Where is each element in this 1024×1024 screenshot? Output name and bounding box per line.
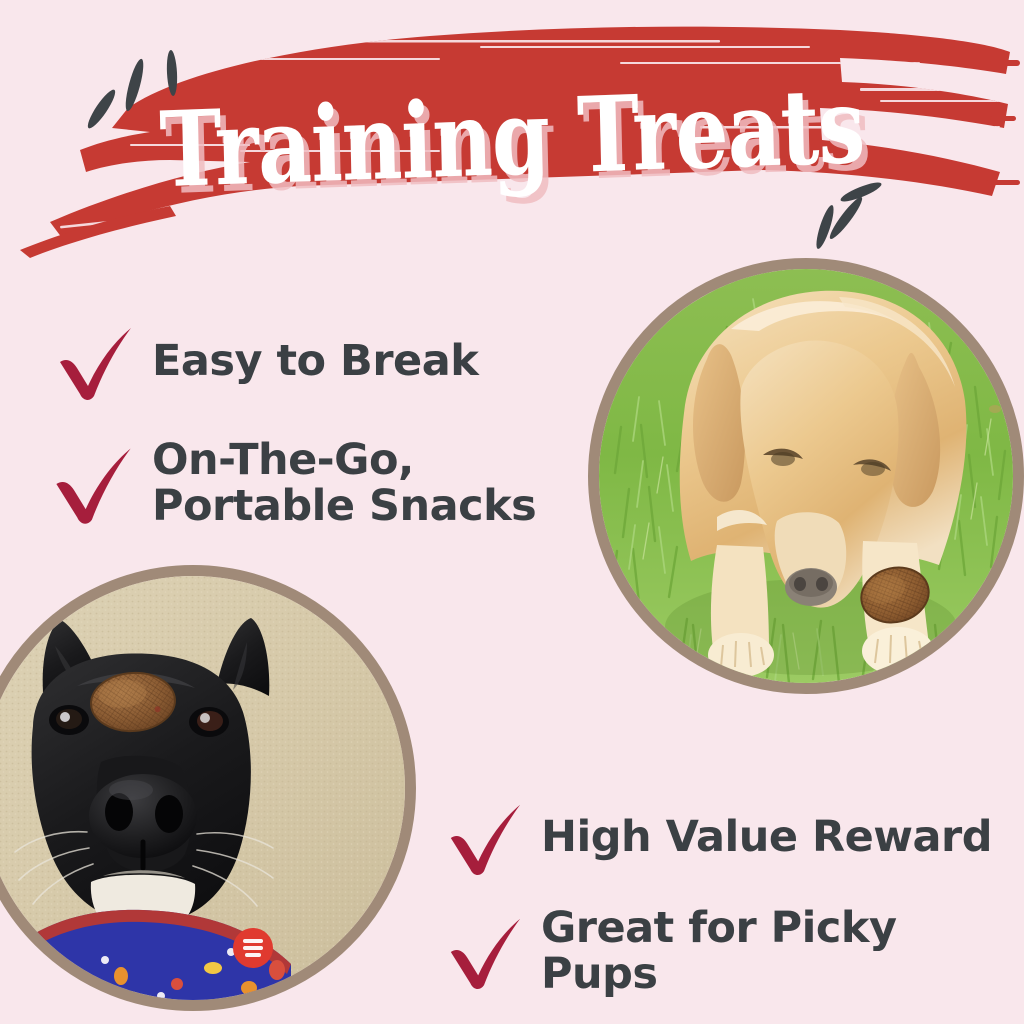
feature-bullet-easy-to-break: Easy to Break: [52, 318, 478, 404]
header-banner: Training Treats: [0, 0, 1024, 272]
feature-bullet-label: On-The-Go, Portable Snacks: [152, 437, 536, 530]
feature-bullet-high-value-reward: High Value Reward: [443, 795, 992, 879]
promo-poster: Training Treats Easy to Break On-The-Go,…: [0, 0, 1024, 1024]
golden-retriever-illustration: [599, 269, 1013, 683]
golden-retriever-photo: [588, 258, 1024, 694]
check-icon: [52, 318, 138, 404]
black-dog-photo: [0, 565, 416, 1011]
feature-bullet-picky-pups: Great for Picky Pups: [443, 905, 1024, 998]
check-icon: [48, 437, 138, 529]
check-icon: [443, 795, 527, 879]
feature-bullet-label: Easy to Break: [152, 338, 478, 384]
page-title: Training Treats: [101, 72, 922, 205]
check-icon: [443, 909, 527, 993]
black-dog-illustration: [0, 576, 405, 1000]
feature-bullet-on-the-go: On-The-Go, Portable Snacks: [48, 437, 536, 530]
feature-bullet-label: High Value Reward: [541, 814, 992, 860]
feature-bullet-label: Great for Picky Pups: [541, 905, 1024, 998]
